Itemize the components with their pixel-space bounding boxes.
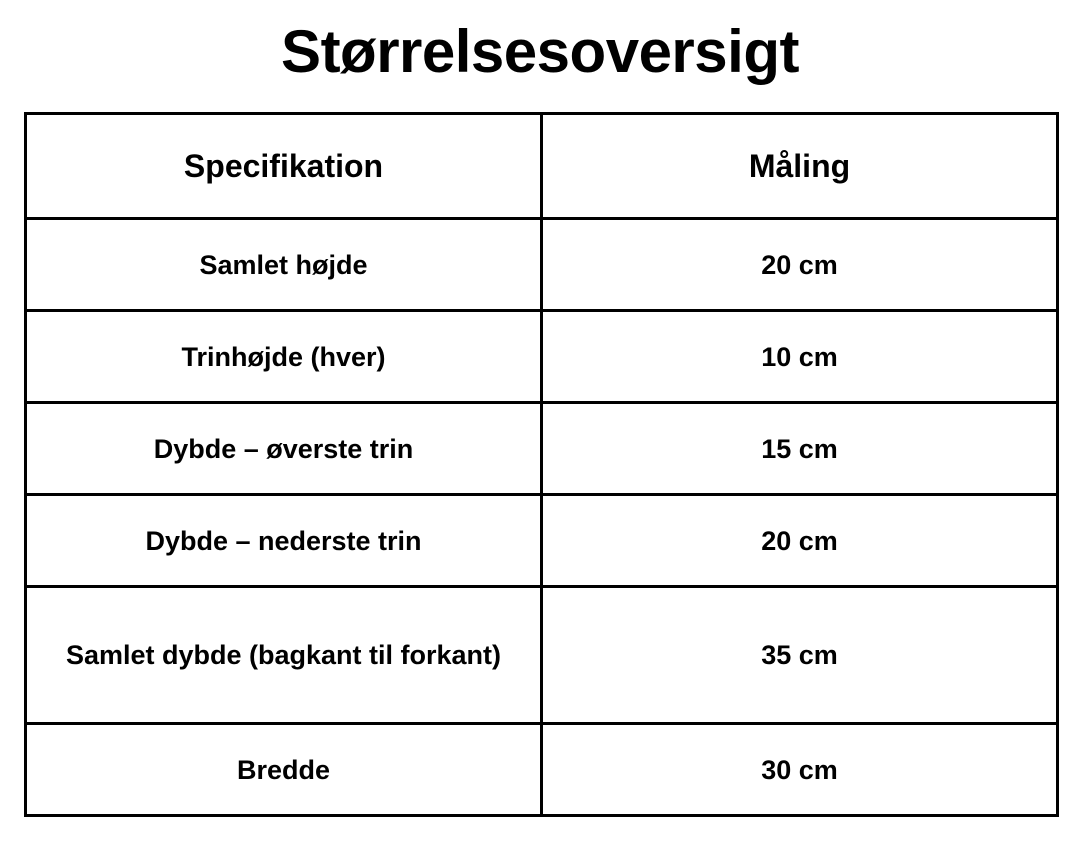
cell-measurement: 20 cm: [542, 219, 1058, 311]
cell-measurement: 30 cm: [542, 724, 1058, 816]
table-body: Samlet højde 20 cm Trinhøjde (hver) 10 c…: [26, 219, 1058, 816]
page-title: Størrelsesoversigt: [0, 12, 1080, 92]
column-header-measurement: Måling: [542, 114, 1058, 219]
size-specification-table: Specifikation Måling Samlet højde 20 cm …: [24, 112, 1059, 817]
table-row: Samlet dybde (bagkant til forkant) 35 cm: [26, 587, 1058, 724]
table-row: Dybde – øverste trin 15 cm: [26, 403, 1058, 495]
size-overview-page: Størrelsesoversigt Specifikation Måling …: [0, 0, 1080, 842]
cell-measurement: 20 cm: [542, 495, 1058, 587]
table-header-row: Specifikation Måling: [26, 114, 1058, 219]
table-row: Bredde 30 cm: [26, 724, 1058, 816]
cell-specification: Bredde: [26, 724, 542, 816]
table-header: Specifikation Måling: [26, 114, 1058, 219]
cell-specification: Trinhøjde (hver): [26, 311, 542, 403]
column-header-specification: Specifikation: [26, 114, 542, 219]
table-row: Trinhøjde (hver) 10 cm: [26, 311, 1058, 403]
cell-specification: Samlet dybde (bagkant til forkant): [26, 587, 542, 724]
cell-measurement: 35 cm: [542, 587, 1058, 724]
cell-specification: Dybde – nederste trin: [26, 495, 542, 587]
cell-measurement: 10 cm: [542, 311, 1058, 403]
table-row: Samlet højde 20 cm: [26, 219, 1058, 311]
cell-specification: Samlet højde: [26, 219, 542, 311]
cell-specification: Dybde – øverste trin: [26, 403, 542, 495]
table-row: Dybde – nederste trin 20 cm: [26, 495, 1058, 587]
cell-measurement: 15 cm: [542, 403, 1058, 495]
